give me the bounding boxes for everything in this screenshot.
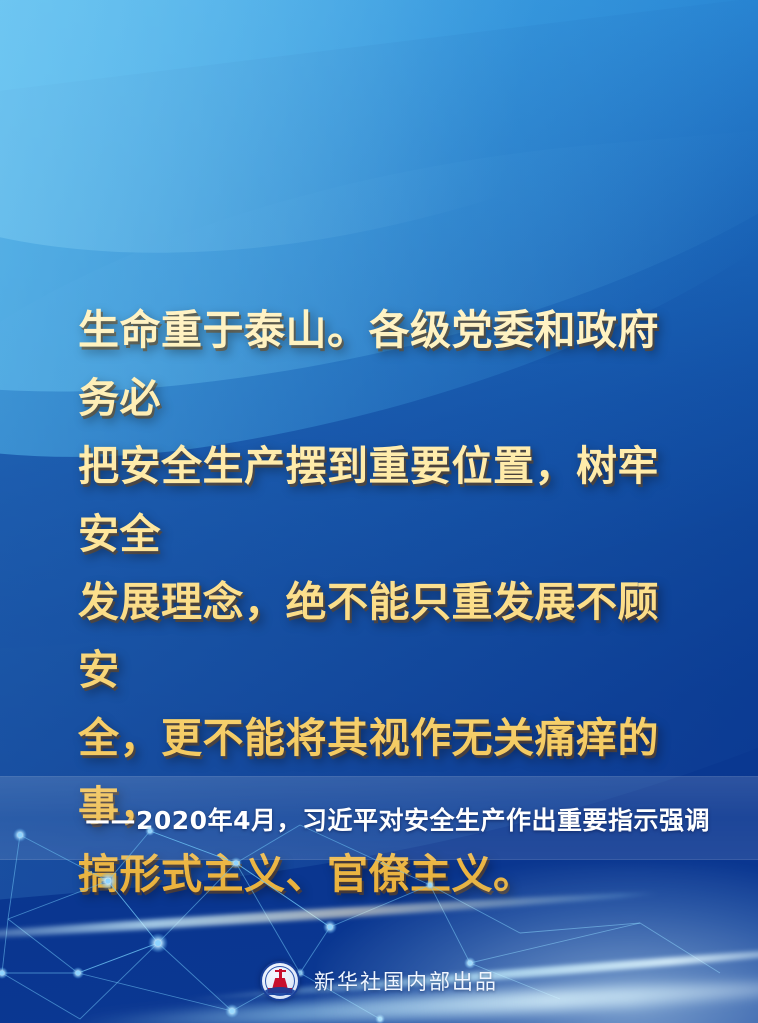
background-swoosh-highlight (0, 0, 758, 343)
footer: 新华社国内部出品 (0, 961, 758, 1001)
xinhua-logo-icon (260, 961, 300, 1001)
logo-crossbar (275, 970, 286, 972)
footer-credit-text: 新华社国内部出品 (314, 966, 498, 996)
poster-canvas: 生命重于泰山。各级党委和政府务必 把安全生产摆到重要位置，树牢安全 发展理念，绝… (0, 0, 758, 1023)
